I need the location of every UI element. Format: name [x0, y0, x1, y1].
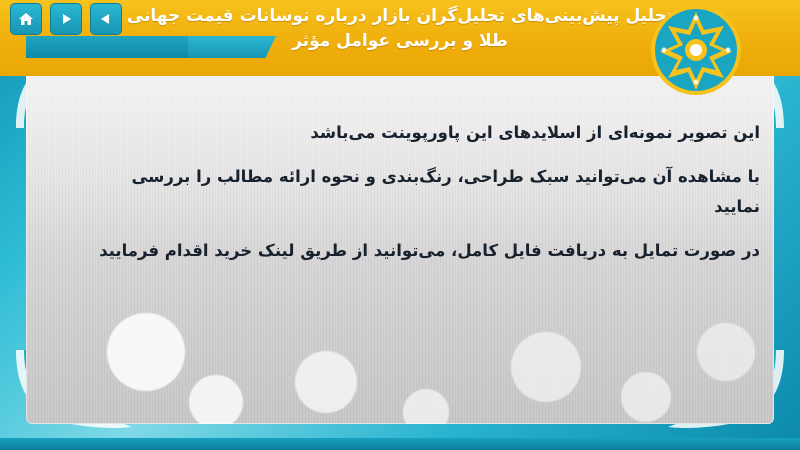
slide-navigation-bar [10, 2, 122, 36]
triangle-right-icon [59, 12, 73, 26]
slide-body-text: این تصویر نمونه‌ای از اسلایدهای این پاور… [80, 118, 760, 280]
body-paragraph-3: در صورت تمایل به دریافت فایل کامل، می‌تو… [80, 236, 760, 266]
home-icon [18, 11, 34, 27]
triangle-left-icon [99, 12, 113, 26]
star-medallion-ornament [650, 4, 742, 96]
next-slide-button[interactable] [50, 3, 82, 35]
body-paragraph-2: با مشاهده آن می‌توانید سبک طراحی، رنگ‌بن… [80, 162, 760, 222]
presentation-slide: تحلیل پیش‌بینی‌های تحلیل‌گران بازار دربا… [0, 0, 800, 450]
previous-slide-button[interactable] [90, 3, 122, 35]
home-button[interactable] [10, 3, 42, 35]
footer-strip [0, 438, 800, 450]
body-paragraph-1: این تصویر نمونه‌ای از اسلایدهای این پاور… [80, 118, 760, 148]
